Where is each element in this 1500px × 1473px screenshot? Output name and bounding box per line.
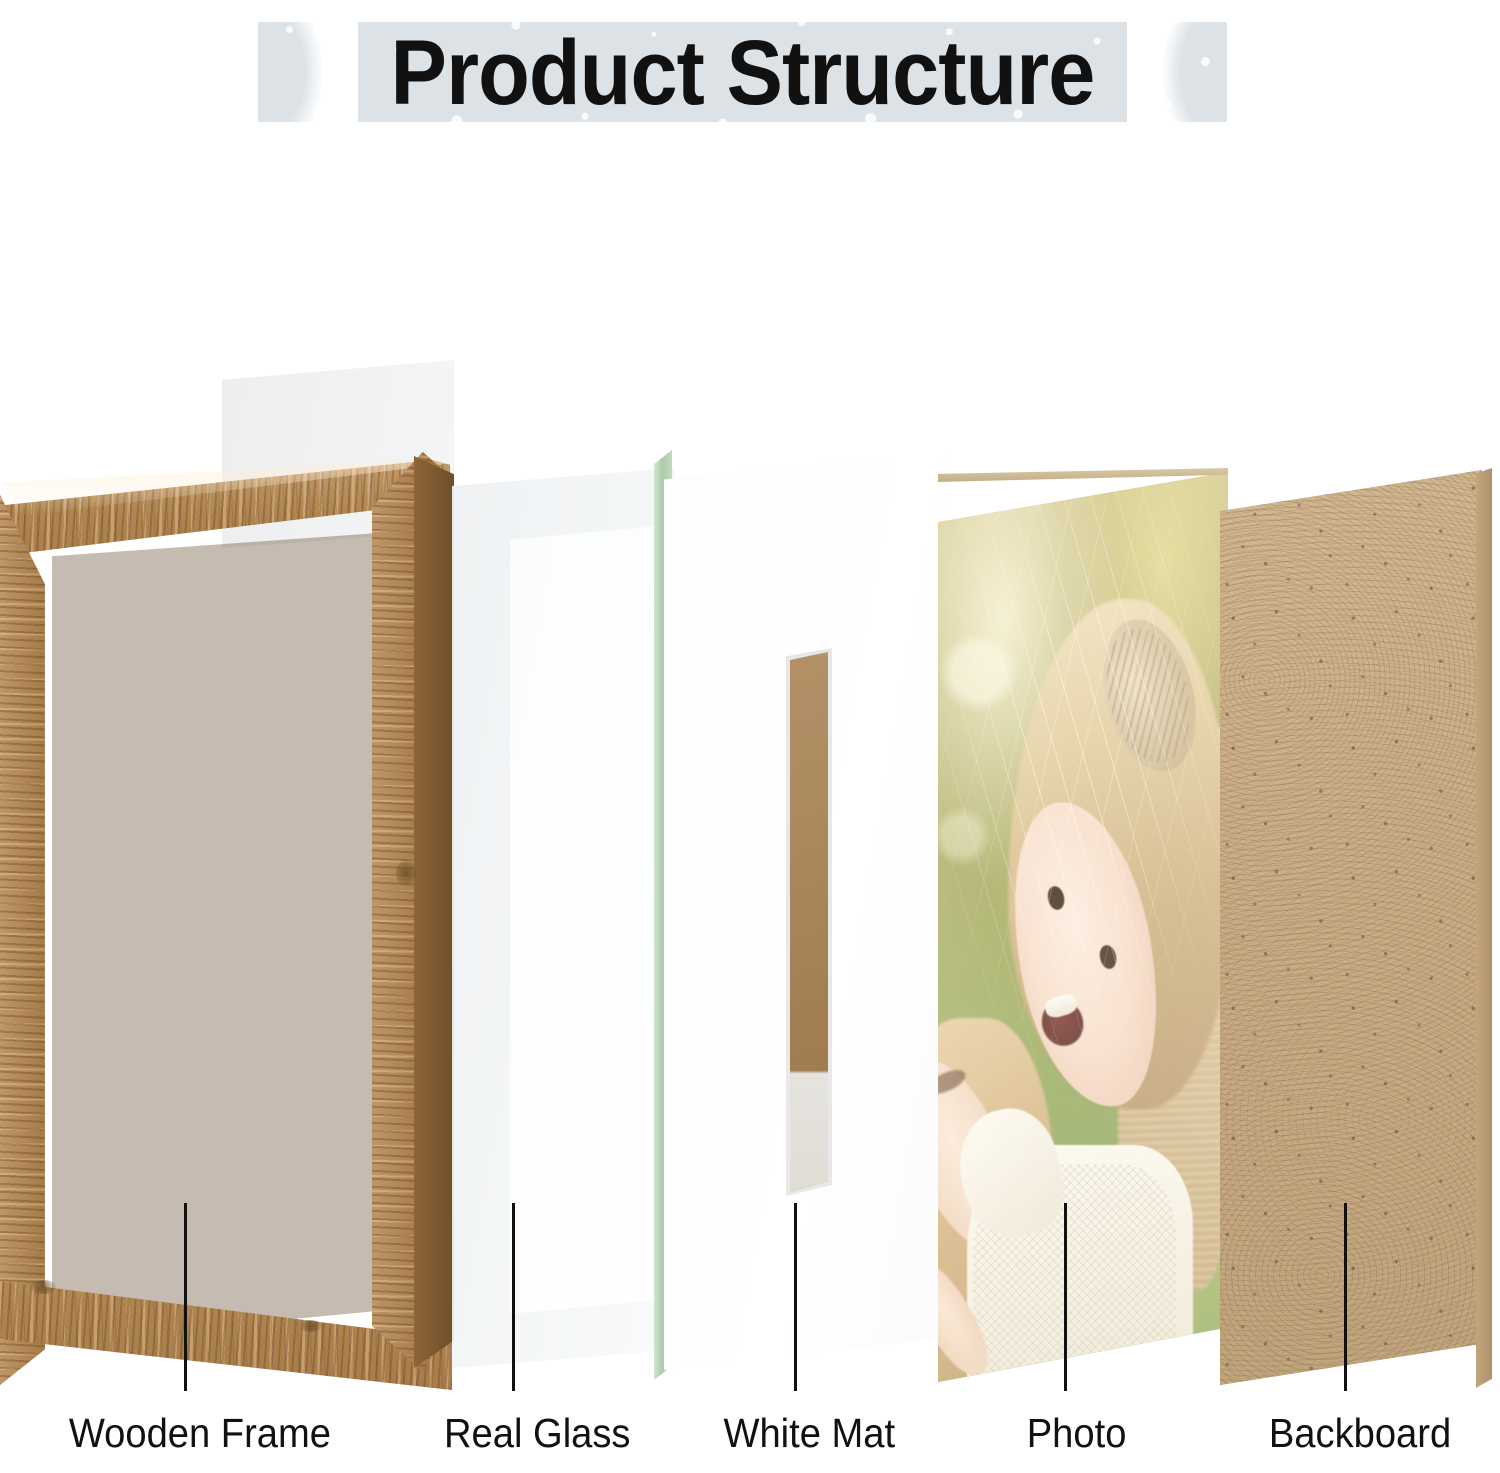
label-row: Wooden Frame Real Glass White Mat Photo … bbox=[0, 1410, 1500, 1473]
backboard-depth-edge bbox=[1476, 468, 1492, 1388]
wood-knot-icon bbox=[300, 1320, 322, 1332]
layer-real-glass[interactable] bbox=[452, 300, 692, 1380]
layer-photo[interactable] bbox=[938, 300, 1234, 1380]
mat-window-bevel bbox=[786, 648, 832, 1196]
layer-white-mat[interactable] bbox=[660, 300, 952, 1380]
leader-line-photo bbox=[1064, 1203, 1067, 1391]
title-banner: Product Structure bbox=[240, 12, 1245, 134]
leader-line-real-glass bbox=[512, 1203, 515, 1391]
label-real-glass: Real Glass bbox=[444, 1410, 630, 1457]
wood-knot-icon bbox=[30, 1280, 56, 1294]
frame-depth-edge bbox=[414, 456, 454, 1368]
label-wooden-frame: Wooden Frame bbox=[69, 1410, 331, 1457]
frame-inner-lip bbox=[52, 532, 392, 1342]
leader-line-backboard bbox=[1344, 1203, 1347, 1391]
backboard-fiber-texture bbox=[1220, 470, 1482, 1385]
label-backboard: Backboard bbox=[1269, 1410, 1451, 1457]
glass-sheet-inner-reflection bbox=[510, 524, 678, 1314]
wood-knot-icon bbox=[396, 860, 416, 886]
label-white-mat: White Mat bbox=[724, 1410, 896, 1457]
label-photo: Photo bbox=[1027, 1410, 1127, 1457]
leader-line-wooden-frame bbox=[184, 1203, 187, 1391]
leader-line-white-mat bbox=[794, 1203, 797, 1391]
layer-backboard[interactable] bbox=[1220, 300, 1500, 1380]
layer-wooden-frame[interactable] bbox=[0, 300, 452, 1360]
page-title: Product Structure bbox=[280, 12, 1205, 134]
exploded-diagram bbox=[0, 160, 1500, 1220]
photo-image bbox=[938, 472, 1228, 1382]
